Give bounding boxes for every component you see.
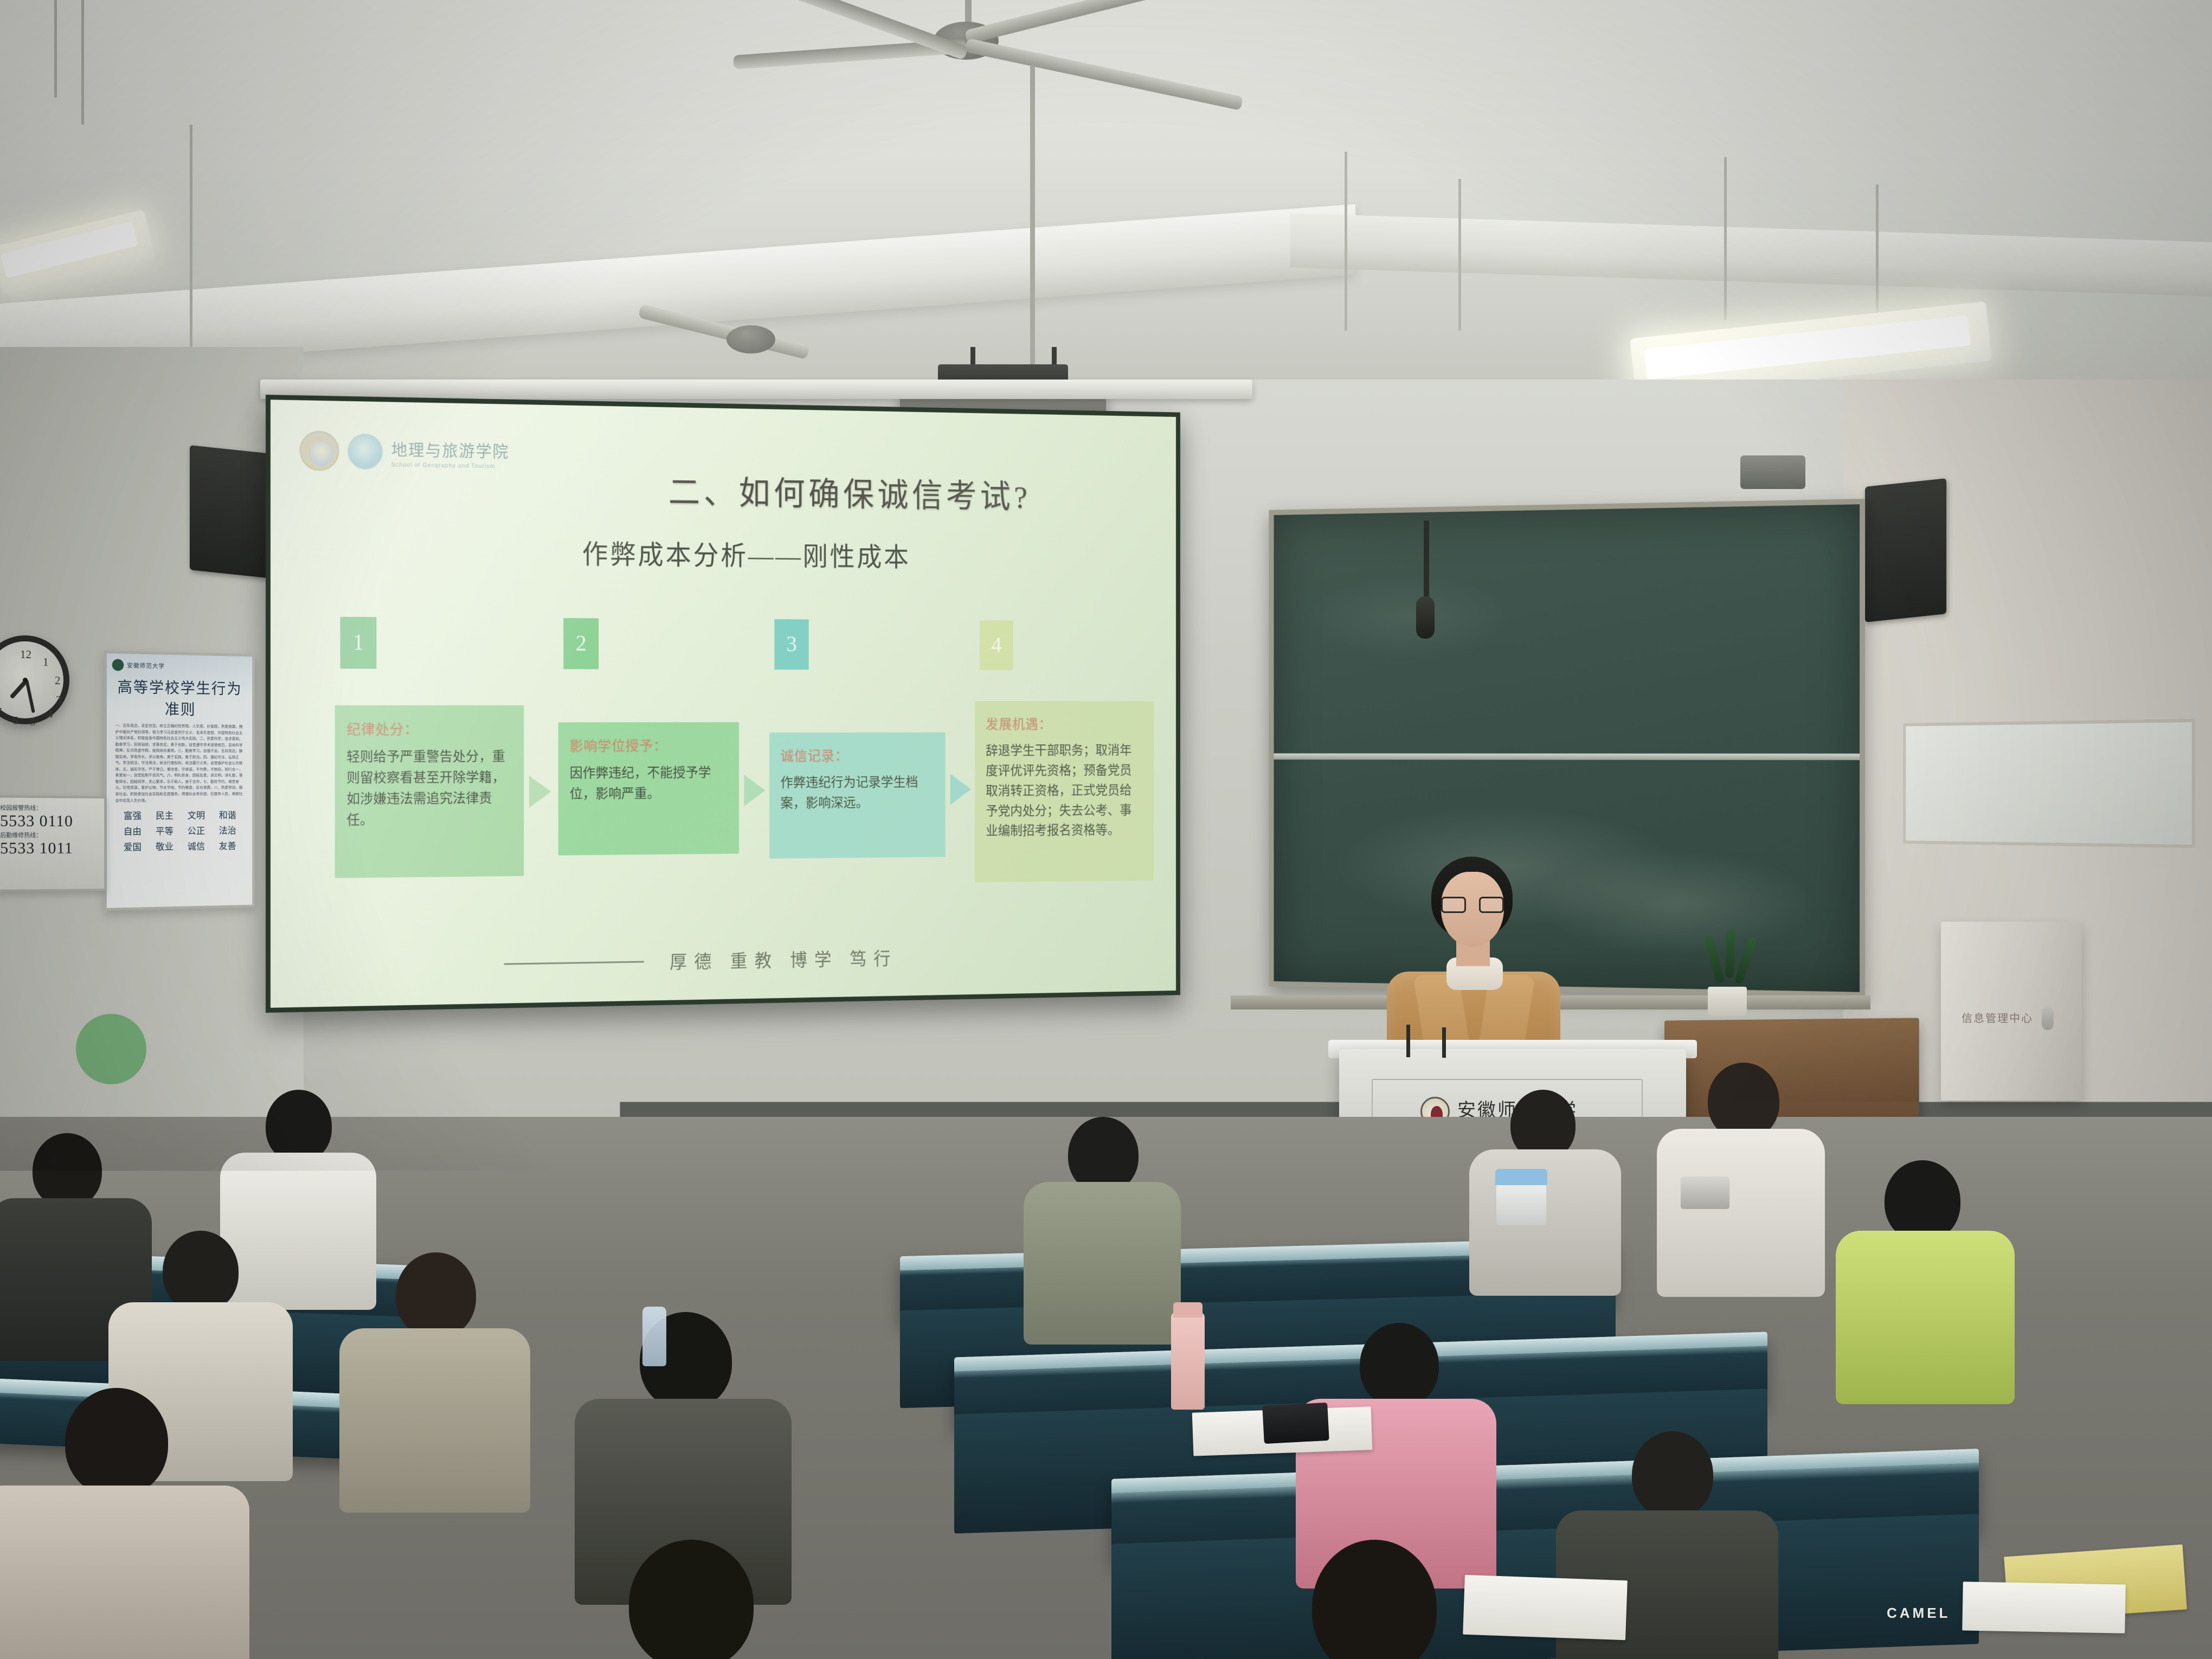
student-head	[629, 1540, 754, 1659]
podium-microphone	[1406, 1025, 1410, 1057]
light-rod	[81, 0, 84, 125]
poster-header: 安徽师范大学	[112, 659, 247, 673]
content-box-1-body: 轻则给予严重警告处分，重则留校察看甚至开除学籍，如涉嫌违法需追究法律责任。	[346, 747, 512, 831]
core-value: 文明	[182, 808, 211, 821]
podium-microphone	[1442, 1027, 1446, 1058]
fan-hub	[726, 325, 775, 353]
speaker-right	[1865, 478, 1946, 622]
poster-university: 安徽师范大学	[127, 661, 165, 670]
number-chip-1: 1	[340, 617, 377, 669]
slide-logo-text: 地理与旅游学院 School of Geography and Tourism	[391, 436, 510, 470]
jacket-brand-label: CAMEL	[1887, 1605, 1950, 1622]
glasses-lens	[1441, 897, 1466, 913]
student-body	[0, 1486, 249, 1659]
school-name-en: School of Geography and Tourism	[391, 461, 510, 470]
slide-content-boxes: 纪律处分： 轻则给予严重警告处分，重则留校察看甚至开除学籍，如涉嫌违法需追究法律…	[335, 671, 1175, 897]
slide-subtitle: 作弊成本分析——刚性成本	[582, 533, 911, 574]
projection-screen: 地理与旅游学院 School of Geography and Tourism …	[266, 395, 1180, 1013]
plant-leaf	[1734, 936, 1757, 985]
classroom-scene: 地理与旅游学院 School of Geography and Tourism …	[0, 0, 2212, 1659]
presentation-slide: 地理与旅游学院 School of Geography and Tourism …	[271, 400, 1176, 1008]
content-box-4: 发展机遇： 辞退学生干部职务；取消年度评优评先资格；预备党员取消转正资格，正式党…	[975, 701, 1154, 882]
chalk-smudge	[1303, 574, 1514, 660]
clock-number-5: 5	[30, 715, 36, 729]
phone-label-1: 校园报警热线：	[0, 803, 100, 812]
plant-pot	[1708, 987, 1747, 1016]
thermos-cup[interactable]	[1496, 1182, 1546, 1225]
phone-number-1: 5533 0110	[0, 812, 100, 831]
core-value: 富强	[118, 808, 148, 822]
core-value: 和谐	[213, 808, 242, 821]
content-box-3: 诚信记录： 作弊违纪行为记录学生档案，影响深远。	[769, 732, 945, 859]
student-head	[266, 1090, 332, 1162]
core-value: 诚信	[182, 839, 211, 852]
microphone-icon	[1416, 596, 1435, 639]
student-head	[163, 1231, 239, 1312]
glasses-lens	[1479, 897, 1504, 913]
poster-body: 一、志存高远，坚定信念。树立正确的世界观、人生观、价值观，热爱祖国，拥护中国共产…	[112, 723, 247, 804]
number-chip-3: 3	[774, 619, 808, 670]
water-bottle[interactable]	[642, 1307, 666, 1366]
student-head	[1312, 1540, 1437, 1659]
slide-footer-rule	[504, 961, 644, 964]
arrow-icon-1	[529, 776, 551, 808]
fan-rod-lower	[1030, 65, 1035, 401]
slide-footer-motto: 厚德 重教 博学 笃行	[670, 944, 897, 974]
student-body	[1836, 1231, 2015, 1404]
student-head	[1360, 1323, 1439, 1407]
student	[1648, 1063, 1827, 1290]
student-body	[1657, 1129, 1825, 1297]
light-rod	[1876, 184, 1879, 325]
number-chip-4: 4	[980, 620, 1013, 670]
content-box-1-heading: 纪律处分：	[346, 719, 512, 741]
student	[0, 1388, 249, 1659]
phone-number-2: 5533 1011	[0, 839, 100, 858]
slide-logo-group: 地理与旅游学院 School of Geography and Tourism	[299, 430, 509, 474]
side-whiteboard	[1903, 719, 2195, 848]
content-box-2-body: 因作弊违纪，不能授予学位，影响严重。	[570, 763, 728, 805]
core-value: 自由	[118, 824, 148, 837]
school-name-cn: 地理与旅游学院	[391, 436, 510, 461]
poster-title: 高等学校学生行为准则	[112, 675, 247, 720]
school-globe-icon	[348, 434, 383, 470]
student-head	[33, 1133, 102, 1208]
clock-number-6: 6	[12, 714, 18, 728]
smartphone[interactable]	[1262, 1403, 1329, 1444]
potted-plant	[1697, 922, 1757, 1008]
core-value: 公正	[182, 824, 211, 837]
microphone-cable	[1424, 520, 1429, 602]
camera-box	[1740, 455, 1805, 489]
student-head	[304, 1464, 423, 1589]
student	[1832, 1160, 2011, 1388]
student-head	[65, 1388, 168, 1496]
core-values-grid: 富强 民主 文明 和谐 自由 平等 公正 法治 爱国 敬业 诚信 友善	[112, 808, 247, 853]
plant-leaf	[1703, 934, 1725, 983]
water-bottle[interactable]	[1171, 1312, 1205, 1410]
clock-center-pin	[23, 678, 28, 683]
content-box-4-heading: 发展机遇：	[986, 715, 1143, 736]
core-value: 民主	[150, 808, 179, 821]
student-body	[1024, 1182, 1181, 1345]
clock-number-2: 2	[55, 674, 61, 687]
projection-screen-housing	[260, 380, 1252, 399]
arrow-icon-2	[744, 775, 765, 806]
blackboard-divider	[1274, 754, 1860, 760]
plant-leaf	[1725, 929, 1735, 979]
student-head	[1068, 1117, 1139, 1193]
student-head	[1708, 1063, 1779, 1140]
clock-number-7: 7	[0, 705, 2, 719]
core-value: 法治	[213, 823, 242, 837]
student	[228, 1464, 510, 1659]
notebook-paper[interactable]	[1962, 1581, 2126, 1633]
light-rod	[1458, 179, 1461, 331]
clock-minute-hand	[25, 679, 35, 713]
content-box-2: 影响学位授予： 因作弊违纪，不能授予学位，影响严重。	[558, 722, 739, 856]
glasses-icon	[1441, 897, 1504, 913]
content-box-1: 纪律处分： 轻则给予严重警告处分，重则留校察看甚至开除学籍，如涉嫌违法需追究法律…	[335, 705, 524, 878]
notebook-paper[interactable]	[1463, 1575, 1628, 1640]
bottle-cap[interactable]	[1173, 1302, 1203, 1317]
wall-decoration-circle	[76, 1014, 146, 1084]
university-seal-icon	[299, 430, 339, 471]
cabinet-label: 信息管理中心	[1962, 1009, 2033, 1025]
core-value: 敬业	[150, 839, 179, 853]
student-code-poster: 安徽师范大学 高等学校学生行为准则 一、志存高远，坚定信念。树立正确的世界观、人…	[104, 651, 255, 911]
content-box-3-body: 作弊违纪行为记录学生档案，影响深远。	[781, 773, 935, 814]
light-rod	[1345, 152, 1347, 331]
content-box-3-heading: 诚信记录：	[781, 746, 935, 768]
clock-number-12: 12	[20, 648, 31, 661]
thermos-lid[interactable]	[1495, 1169, 1547, 1185]
tablet-device[interactable]	[1681, 1176, 1729, 1209]
light-rod	[1724, 157, 1727, 320]
student	[564, 1540, 824, 1659]
clock-number-3: 3	[56, 693, 62, 707]
student-head	[1885, 1160, 1960, 1242]
emergency-phone-plate: 校园报警热线： 5533 0110 后勤维修热线： 5533 1011	[0, 795, 106, 892]
slide-number-chips: 1 2 3 4	[340, 617, 1171, 671]
core-value: 爱国	[118, 839, 148, 853]
arrow-icon-3	[950, 774, 971, 805]
student-head	[1632, 1431, 1713, 1518]
content-box-4-body: 辞退学生干部职务；取消年度评优评先资格；预备党员取消转正资格，正式党员给予党内处…	[986, 741, 1143, 842]
core-value: 友善	[213, 838, 242, 852]
poster-seal-icon	[112, 659, 124, 671]
student-head	[396, 1252, 476, 1338]
cabinet-lock-icon[interactable]	[2042, 1006, 2054, 1030]
slide-title: 二、如何确保诚信考试?	[668, 465, 1031, 517]
clock-number-1: 1	[43, 655, 49, 669]
phone-label-2: 后勤维修热线：	[0, 831, 100, 839]
number-chip-2: 2	[563, 618, 599, 669]
student	[1008, 1117, 1187, 1334]
core-value: 平等	[150, 824, 179, 837]
light-rod	[54, 0, 57, 98]
clock-number-4: 4	[47, 708, 53, 721]
content-box-2-heading: 影响学位授予：	[570, 736, 728, 757]
student-body	[228, 1578, 510, 1659]
